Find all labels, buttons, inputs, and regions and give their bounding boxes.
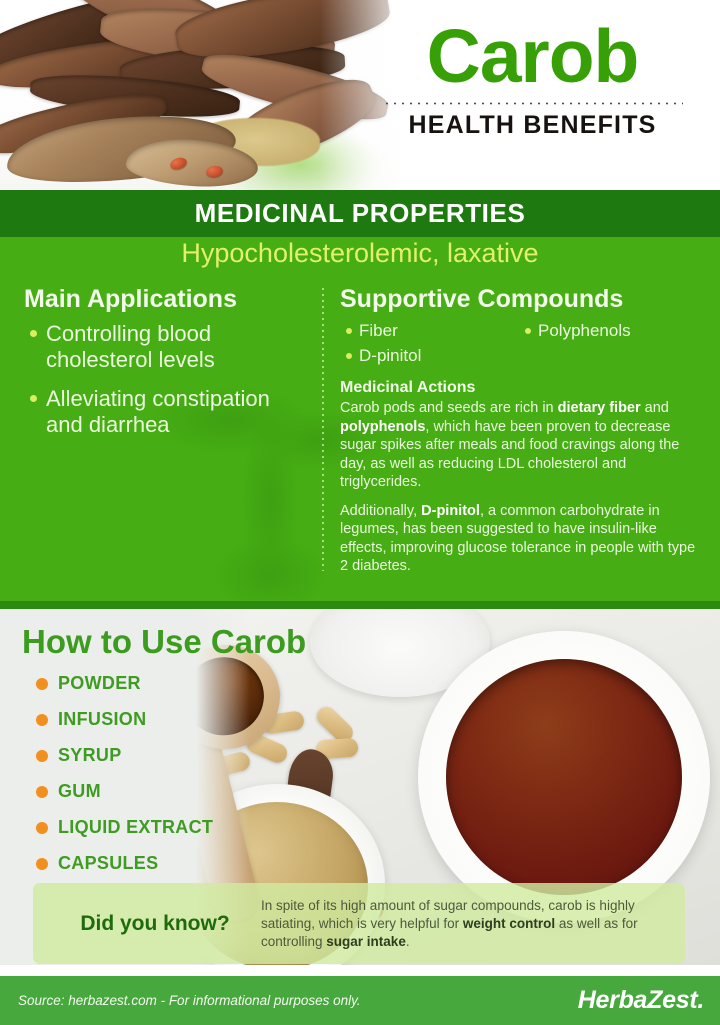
list-item-label: D-pinitol bbox=[359, 346, 421, 366]
main-applications-list: Controlling blood cholesterol levels All… bbox=[24, 321, 306, 438]
bullet-dot-icon bbox=[36, 750, 48, 762]
how-to-use-title: How to Use Carob bbox=[22, 623, 306, 661]
footer-source-text: Source: herbazest.com - For informationa… bbox=[18, 993, 361, 1008]
list-item-label: Fiber bbox=[359, 321, 398, 341]
bullet-dot-icon bbox=[30, 330, 37, 337]
main-applications-heading: Main Applications bbox=[24, 285, 306, 314]
list-item: POWDER bbox=[36, 673, 213, 694]
footer: Source: herbazest.com - For informationa… bbox=[0, 976, 720, 1025]
did-you-know-body: In spite of its high amount of sugar com… bbox=[261, 897, 667, 951]
did-you-know-title: Did you know? bbox=[49, 912, 261, 936]
did-you-know-box: Did you know? In spite of its high amoun… bbox=[33, 883, 685, 964]
bullet-dot-icon bbox=[36, 786, 48, 798]
bullet-dot-icon bbox=[525, 328, 531, 334]
infographic-page: Carob HEALTH BENEFITS MEDICINAL PROPERTI… bbox=[0, 0, 720, 1025]
list-item-label: GUM bbox=[58, 781, 101, 802]
list-item: Controlling blood cholesterol levels bbox=[24, 321, 306, 373]
bullet-dot-icon bbox=[346, 353, 352, 359]
medicinal-tagline: Hypocholesterolemic, laxative bbox=[0, 238, 720, 269]
list-item: GUM bbox=[36, 781, 213, 802]
carob-tea-liquid bbox=[446, 659, 682, 895]
main-applications-column: Main Applications Controlling blood chol… bbox=[0, 285, 322, 586]
list-item-label: Controlling blood cholesterol levels bbox=[46, 321, 306, 373]
header: Carob HEALTH BENEFITS bbox=[0, 0, 720, 190]
bullet-dot-icon bbox=[36, 858, 48, 870]
list-item: Alleviating constipation and diarrhea bbox=[24, 386, 306, 438]
section-top-strip bbox=[0, 601, 720, 609]
carob-tea-cup bbox=[418, 631, 710, 923]
supportive-compounds-list: Fiber Polyphenols D-pinitol bbox=[340, 321, 698, 371]
how-to-use-list: POWDER INFUSION SYRUP GUM LIQUID EXTRACT… bbox=[36, 673, 213, 889]
medicinal-properties-section: MEDICINAL PROPERTIES Hypocholesterolemic… bbox=[0, 190, 720, 601]
list-item-label: CAPSULES bbox=[58, 853, 158, 874]
list-item-label: LIQUID EXTRACT bbox=[58, 817, 213, 838]
bullet-dot-icon bbox=[30, 395, 37, 402]
page-subtitle: HEALTH BENEFITS bbox=[355, 111, 710, 140]
list-item: CAPSULES bbox=[36, 853, 213, 874]
medicinal-columns: Main Applications Controlling blood chol… bbox=[0, 285, 720, 586]
medicinal-actions-heading: Medicinal Actions bbox=[340, 379, 698, 397]
list-item: INFUSION bbox=[36, 709, 213, 730]
medicinal-banner-label: MEDICINAL PROPERTIES bbox=[195, 198, 526, 229]
medicinal-actions-paragraph-2: Additionally, D-pinitol, a common carboh… bbox=[340, 502, 698, 576]
supportive-compounds-column: Supportive Compounds Fiber Polyphenols D… bbox=[322, 285, 720, 586]
list-item-label: Polyphenols bbox=[538, 321, 631, 341]
herbazest-logo: HerbaZest. bbox=[578, 986, 704, 1015]
medicinal-banner: MEDICINAL PROPERTIES bbox=[0, 190, 720, 237]
list-item-label: Alleviating constipation and diarrhea bbox=[46, 386, 306, 438]
list-item: D-pinitol bbox=[340, 346, 519, 366]
list-item: Polyphenols bbox=[519, 321, 698, 341]
bullet-dot-icon bbox=[36, 822, 48, 834]
carob-pods-photo bbox=[0, 0, 400, 190]
title-divider bbox=[383, 102, 683, 105]
list-item: SYRUP bbox=[36, 745, 213, 766]
bullet-dot-icon bbox=[36, 678, 48, 690]
list-item: LIQUID EXTRACT bbox=[36, 817, 213, 838]
page-title: Carob bbox=[355, 14, 710, 98]
title-block: Carob HEALTH BENEFITS bbox=[355, 14, 710, 140]
supportive-compounds-heading: Supportive Compounds bbox=[340, 285, 698, 314]
bullet-dot-icon bbox=[36, 714, 48, 726]
list-item-label: POWDER bbox=[58, 673, 141, 694]
bullet-dot-icon bbox=[346, 328, 352, 334]
list-item-label: INFUSION bbox=[58, 709, 146, 730]
medicinal-actions-paragraph-1: Carob pods and seeds are rich in dietary… bbox=[340, 399, 698, 492]
list-item-label: SYRUP bbox=[58, 745, 122, 766]
list-item: Fiber bbox=[340, 321, 519, 341]
